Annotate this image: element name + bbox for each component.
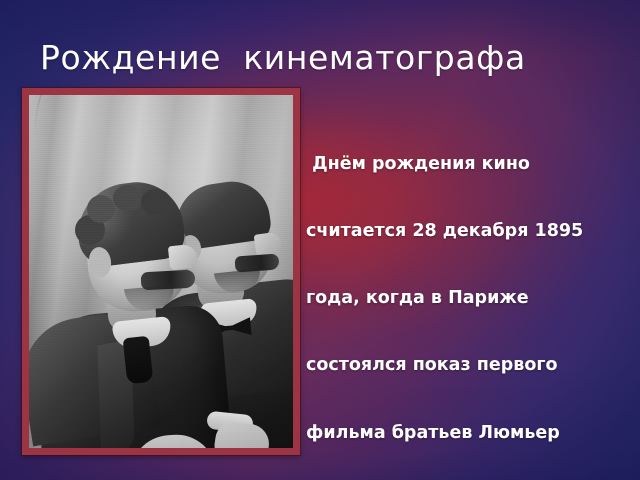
slide-title: Рождение кинематографа (40, 36, 620, 80)
body-line: Днём рождения кино (306, 153, 636, 175)
body-line: года, когда в Париже (306, 287, 636, 309)
front-man-hair-curl (141, 189, 171, 215)
front-man-hair-curl (113, 185, 143, 211)
rear-man-nose (254, 231, 283, 256)
photo-frame (22, 88, 300, 455)
body-line: состоялся показ первого (306, 354, 636, 376)
body-line: фильма братьев Люмьер (306, 422, 636, 444)
front-man-necktie (123, 336, 154, 384)
body-line: считается 28 декабря 1895 (306, 220, 636, 242)
presentation-slide: Рождение кинематографа (0, 0, 640, 480)
slide-body-text: Днём рождения кино считается 28 декабря … (306, 108, 636, 480)
front-man-hair-curl (87, 195, 115, 223)
lumiere-brothers-photo (29, 95, 293, 448)
